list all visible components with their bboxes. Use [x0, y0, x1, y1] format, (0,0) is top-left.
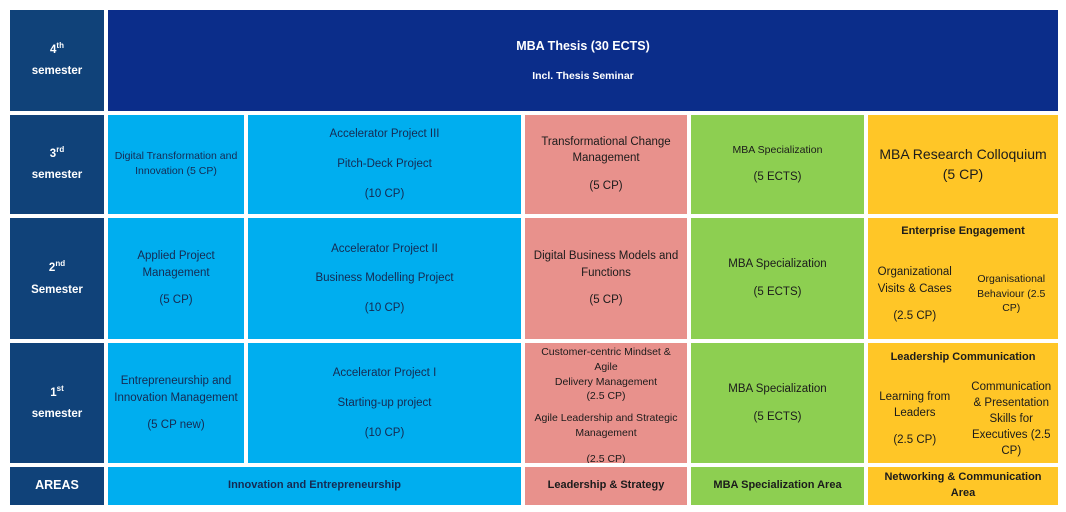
semester-1-ordinal-suffix: st [57, 384, 64, 393]
semester-label-3: 3rd semester [10, 115, 104, 214]
semester-label-1: 1st semester [10, 343, 104, 463]
course-title-cont: & Presentation [974, 395, 1049, 411]
course-title-cont3: Executives (2.5 [972, 427, 1051, 443]
cell-mba-specialization-sem2: MBA Specialization (5 ECTS) [691, 218, 864, 340]
course-credits: (5 CP) [589, 178, 622, 195]
cell-accelerator-project-3: Accelerator Project III Pitch-Deck Proje… [248, 115, 521, 214]
leadership-communication-subcells: Learning from Leaders (2.5 CP) Communica… [868, 374, 1058, 463]
course-title-cont: Leaders [894, 405, 936, 421]
course-credits: (5 CP) [589, 292, 622, 309]
course-title: Customer-centric Mindset & [541, 345, 671, 360]
mba-curriculum-diagram: 4th semester MBA Thesis (30 ECTS) Incl. … [0, 0, 1066, 512]
course-title-cont: Visits & Cases [878, 281, 952, 297]
course-title: Agile Leadership and Strategic [534, 411, 677, 426]
semester-label-4: 4th semester [10, 10, 104, 111]
semester-1-word: semester [32, 404, 83, 426]
semester-3-word: semester [32, 165, 83, 187]
course-title: Communication [971, 379, 1051, 395]
course-title-cont: Functions [581, 265, 631, 282]
course-credits: (10 CP) [365, 186, 405, 203]
course-title: Accelerator Project III [330, 126, 440, 143]
course-title-cont: Behaviour (2.5 CP) [970, 287, 1054, 316]
cell-accelerator-project-2: Accelerator Project II Business Modellin… [248, 218, 521, 340]
cell-leadership-communication-group: Leadership Communication Learning from L… [868, 343, 1058, 463]
area-innovation-entrepreneurship: Innovation and Entrepreneurship [108, 467, 521, 505]
cell-organizational-visits-cases: Organizational Visits & Cases (2.5 CP) [868, 249, 962, 340]
cell-mba-specialization-sem1: MBA Specialization (5 ECTS) [691, 343, 864, 463]
cell-customer-centric-mindset-agile: Customer-centric Mindset & Agile Deliver… [537, 343, 675, 406]
row-semester-2: 2nd Semester Applied Project Management … [10, 218, 1058, 340]
course-subtitle: Starting-up project [338, 395, 432, 412]
cell-learning-from-leaders: Learning from Leaders (2.5 CP) [868, 374, 962, 463]
semester-2-ordinal-suffix: nd [55, 259, 65, 268]
course-title: Digital Business Models and [534, 248, 678, 265]
course-credits: (2.5 CP) [893, 308, 936, 324]
course-credits: (5 ECTS) [754, 284, 802, 301]
course-title: Applied Project [137, 248, 214, 265]
cell-transformational-change-management: Transformational Change Management (5 CP… [525, 115, 687, 214]
course-title: Organisational [977, 272, 1045, 287]
cell-enterprise-engagement-group: Enterprise Engagement Organizational Vis… [868, 218, 1058, 340]
semester-4-ordinal-suffix: th [56, 41, 64, 50]
course-title-cont: Management [575, 426, 636, 441]
area-networking-communication: Networking & Communication Area [868, 467, 1058, 505]
course-credits: (5 ECTS) [754, 409, 802, 426]
course-title: Entrepreneurship and [121, 373, 232, 390]
course-credits: (5 CP) [159, 292, 192, 309]
mba-thesis-title: MBA Thesis (30 ECTS) [516, 37, 650, 55]
semester-4-word: semester [32, 61, 83, 83]
cell-accelerator-project-1: Accelerator Project I Starting-up projec… [248, 343, 521, 463]
cell-applied-project-management: Applied Project Management (5 CP) [108, 218, 244, 340]
semester-label-2: 2nd Semester [10, 218, 104, 340]
course-subtitle: Business Modelling Project [315, 270, 453, 287]
course-credits: (5 CP new) [147, 417, 204, 434]
cell-digital-transformation-innovation: Digital Transformation and Innovation (5… [108, 115, 244, 214]
area-label: MBA Specialization Area [713, 478, 841, 494]
course-title: Organizational [878, 264, 952, 280]
course-title-cont: Management [142, 265, 209, 282]
curriculum-grid: 4th semester MBA Thesis (30 ECTS) Incl. … [10, 10, 1058, 505]
leadership-communication-header: Leadership Communication [887, 343, 1040, 371]
course-title: Accelerator Project II [331, 241, 438, 258]
mba-thesis-subtitle: Incl. Thesis Seminar [532, 69, 634, 84]
course-credits: (5 CP) [943, 164, 983, 184]
cell-organisational-behaviour: Organisational Behaviour (2.5 CP) [965, 249, 1059, 340]
course-credits: (2.5 CP) [893, 432, 936, 448]
course-title: MBA Specialization [728, 381, 826, 398]
areas-label: AREAS [10, 467, 104, 505]
enterprise-engagement-subcells: Organizational Visits & Cases (2.5 CP) O… [868, 249, 1058, 340]
area-label: Networking & Communication Area [872, 470, 1054, 502]
row-semester-3: 3rd semester Digital Transformation and … [10, 115, 1058, 214]
semester-2-number: 2nd [49, 256, 65, 280]
course-title: Digital Transformation and Innovation (5… [112, 149, 240, 179]
course-credits: (2.5 CP) [586, 452, 625, 464]
semester-3-number: 3rd [50, 142, 64, 166]
course-credits: CP) [1001, 443, 1021, 459]
course-title: MBA Research Colloquium [879, 144, 1046, 164]
cell-entrepreneurship-innovation-management: Entrepreneurship and Innovation Manageme… [108, 343, 244, 463]
cell-digital-business-models-functions: Digital Business Models and Functions (5… [525, 218, 687, 340]
course-credits: (10 CP) [365, 300, 405, 317]
course-title-cont: Agile [594, 360, 617, 375]
cell-agile-leadership-strategic-management: Agile Leadership and Strategic Managemen… [530, 409, 681, 463]
semester-3-ordinal-suffix: rd [56, 145, 64, 154]
row-areas: AREAS Innovation and Entrepreneurship Le… [10, 467, 1058, 505]
course-title: MBA Specialization [728, 256, 826, 273]
area-mba-specialization: MBA Specialization Area [691, 467, 864, 505]
course-title-cont: Management [572, 150, 639, 167]
cell-leadership-strategy-group-sem1: Customer-centric Mindset & Agile Deliver… [525, 343, 687, 463]
course-title: Accelerator Project I [333, 365, 437, 382]
enterprise-engagement-header: Enterprise Engagement [897, 218, 1028, 246]
area-label: Leadership & Strategy [548, 478, 665, 494]
course-credits: (10 CP) [365, 425, 405, 442]
course-title: MBA Specialization [733, 143, 823, 158]
course-credits: (2.5 CP) [586, 389, 625, 404]
course-title-cont: Innovation Management [114, 390, 237, 407]
course-subtitle: Pitch-Deck Project [337, 156, 432, 173]
row-semester-1: 1st semester Entrepreneurship and Innova… [10, 343, 1058, 463]
cell-communication-presentation-skills: Communication & Presentation Skills for … [965, 374, 1059, 463]
semester-1-number: 1st [50, 381, 64, 405]
course-title: Learning from [879, 389, 950, 405]
semester-2-word: Semester [31, 280, 83, 302]
course-title-cont2: Skills for [990, 411, 1033, 427]
row-semester-4: 4th semester MBA Thesis (30 ECTS) Incl. … [10, 10, 1058, 111]
cell-mba-specialization-sem3: MBA Specialization (5 ECTS) [691, 115, 864, 214]
course-title: Transformational Change [541, 134, 670, 151]
area-leadership-strategy: Leadership & Strategy [525, 467, 687, 505]
cell-mba-research-colloquium: MBA Research Colloquium (5 CP) [868, 115, 1058, 214]
course-credits: (5 ECTS) [754, 169, 802, 186]
area-label: Innovation and Entrepreneurship [228, 478, 401, 494]
semester-4-number: 4th [50, 38, 64, 62]
cell-mba-thesis: MBA Thesis (30 ECTS) Incl. Thesis Semina… [108, 10, 1058, 111]
course-title-cont2: Delivery Management [555, 375, 657, 390]
